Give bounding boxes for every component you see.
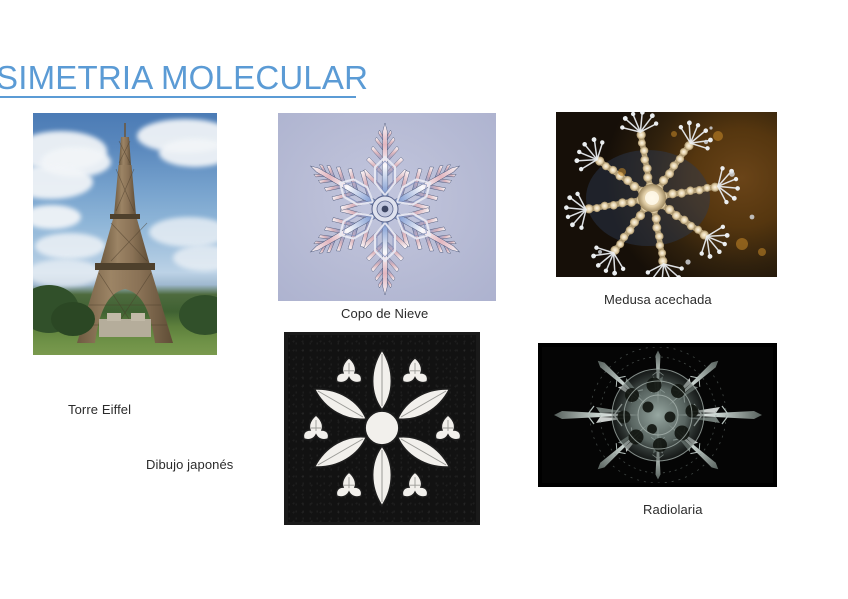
japones-ground	[288, 335, 476, 522]
title-underline	[0, 96, 356, 98]
eiffel-tower-silhouette	[33, 113, 217, 355]
medusa-polyp	[556, 112, 777, 277]
caption-medusa-acechada: Medusa acechada	[604, 292, 712, 308]
caption-copo-de-nieve: Copo de Nieve	[341, 306, 428, 322]
image-dibujo-japones[interactable]	[284, 332, 480, 525]
image-medusa-acechada[interactable]	[556, 112, 777, 277]
page-title: SIMETRIA MOLECULAR	[0, 58, 416, 98]
japanese-mon-motif	[288, 335, 476, 522]
image-copo-de-nieve[interactable]	[278, 113, 496, 301]
caption-radiolaria: Radiolaria	[643, 502, 703, 518]
caption-torre-eiffel: Torre Eiffel	[68, 402, 131, 418]
radiolaria-skeleton	[542, 347, 773, 483]
image-torre-eiffel[interactable]	[33, 113, 217, 355]
caption-dibujo-japones: Dibujo japonés	[146, 457, 233, 473]
radiolaria-ground	[542, 347, 773, 483]
image-radiolaria[interactable]	[538, 343, 777, 487]
snowflake-crystal	[278, 113, 496, 301]
